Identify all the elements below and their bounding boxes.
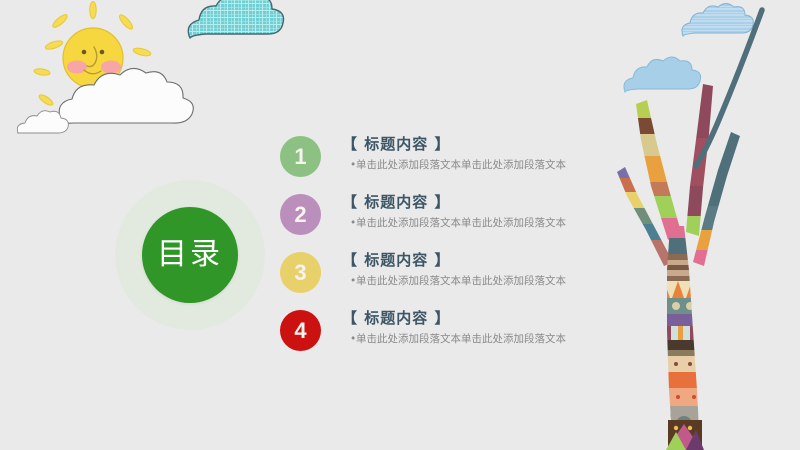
toc-number-circle-2[interactable]: 2 xyxy=(280,194,321,235)
toc-inner-circle[interactable]: 目录 xyxy=(142,207,238,303)
patchwork-tree-icon xyxy=(600,10,762,450)
toc-number-circle-3[interactable]: 3 xyxy=(280,252,321,293)
toc-text-block-1: 【 标题内容 】 单击此处添加段落文本单击此处添加段落文本 xyxy=(342,134,566,173)
toc-text-block-3: 【 标题内容 】 单击此处添加段落文本单击此处添加段落文本 xyxy=(342,250,566,289)
toc-text-block-2: 【 标题内容 】 单击此处添加段落文本单击此处添加段落文本 xyxy=(342,192,566,231)
toc-number-circle-1[interactable]: 1 xyxy=(280,136,321,177)
toc-body-3: 单击此处添加段落文本单击此处添加段落文本 xyxy=(342,273,566,289)
toc-badge: 目录 xyxy=(115,180,265,330)
toc-title-1: 【 标题内容 】 xyxy=(342,134,566,154)
toc-item-2[interactable]: 2 【 标题内容 】 单击此处添加段落文本单击此处添加段落文本 xyxy=(280,194,610,252)
toc-number-3: 3 xyxy=(294,262,306,284)
toc-number-2: 2 xyxy=(294,204,306,226)
sun-rays xyxy=(34,2,152,107)
toc-body-4: 单击此处添加段落文本单击此处添加段落文本 xyxy=(342,331,566,347)
teal-plaid-cloud-icon xyxy=(188,0,283,38)
white-cloud-large-icon xyxy=(59,68,193,123)
toc-body-2: 单击此处添加段落文本单击此处添加段落文本 xyxy=(342,215,566,231)
toc-body-1: 单击此处添加段落文本单击此处添加段落文本 xyxy=(342,157,566,173)
blue-cloud-upper-icon xyxy=(682,4,753,37)
toc-number-circle-4[interactable]: 4 xyxy=(280,310,321,351)
toc-label: 目录 xyxy=(157,240,223,270)
white-cloud-small-icon xyxy=(17,111,68,133)
blue-cloud-lower-icon xyxy=(624,57,701,92)
toc-title-3: 【 标题内容 】 xyxy=(342,250,566,270)
toc-text-block-4: 【 标题内容 】 单击此处添加段落文本单击此处添加段落文本 xyxy=(342,308,566,347)
toc-item-1[interactable]: 1 【 标题内容 】 单击此处添加段落文本单击此处添加段落文本 xyxy=(280,136,610,194)
toc-number-4: 4 xyxy=(294,320,306,342)
smiling-sun-icon xyxy=(63,28,123,88)
toc-title-4: 【 标题内容 】 xyxy=(342,308,566,328)
slide-canvas: 目录 1 【 标题内容 】 单击此处添加段落文本单击此处添加段落文本 2 【 标… xyxy=(0,0,800,450)
toc-number-1: 1 xyxy=(294,146,306,168)
toc-title-2: 【 标题内容 】 xyxy=(342,192,566,212)
toc-item-3[interactable]: 3 【 标题内容 】 单击此处添加段落文本单击此处添加段落文本 xyxy=(280,252,610,310)
toc-item-list: 1 【 标题内容 】 单击此处添加段落文本单击此处添加段落文本 2 【 标题内容… xyxy=(280,136,610,368)
toc-item-4[interactable]: 4 【 标题内容 】 单击此处添加段落文本单击此处添加段落文本 xyxy=(280,310,610,368)
